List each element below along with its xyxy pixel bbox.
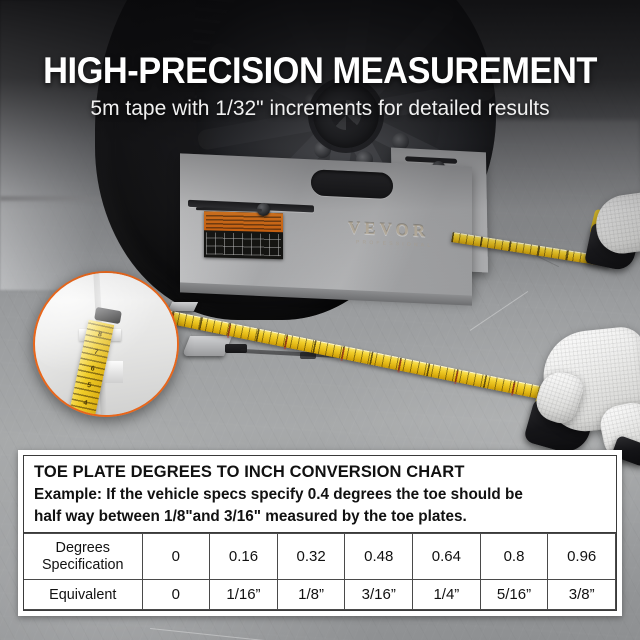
cell-degrees-3: 0.48	[345, 534, 413, 580]
cell-equivalent-0: 0	[142, 580, 210, 610]
table-row-degrees: Degrees Specification 0 0.16 0.32 0.48 0…	[24, 534, 616, 580]
page-subtitle: 5m tape with 1/32" increments for detail…	[0, 97, 640, 121]
table-row-equivalent: Equivalent 0 1/16” 1/8” 3/16” 1/4” 5/16”…	[24, 580, 616, 610]
row-label-line-2: Specification	[24, 557, 142, 574]
cell-degrees-4: 0.64	[413, 534, 481, 580]
cell-degrees-6: 0.96	[548, 534, 616, 580]
chart-header: TOE PLATE DEGREES TO INCH CONVERSION CHA…	[24, 456, 616, 533]
row-label-equivalent: Equivalent	[24, 580, 142, 610]
chart-example-line-1: Example: If the vehicle specs specify 0.…	[34, 485, 606, 505]
tape-number: 5	[86, 382, 91, 390]
page-title: HIGH-PRECISION MEASUREMENT	[22, 52, 617, 89]
conversion-chart-panel: TOE PLATE DEGREES TO INCH CONVERSION CHA…	[18, 450, 622, 616]
cell-degrees-1: 0.16	[210, 534, 278, 580]
cell-equivalent-4: 1/4”	[413, 580, 481, 610]
tape-number: 4	[83, 399, 88, 407]
cell-equivalent-3: 3/16”	[345, 580, 413, 610]
cell-equivalent-5: 5/16”	[480, 580, 548, 610]
product-banner: VEVOR PROFESSIONAL	[0, 0, 640, 640]
cell-equivalent-2: 1/8”	[277, 580, 345, 610]
chart-title: TOE PLATE DEGREES TO INCH CONVERSION CHA…	[34, 462, 606, 483]
chart-example-line-2: half way between 1/8"and 3/16" measured …	[34, 507, 606, 527]
cell-degrees-2: 0.32	[277, 534, 345, 580]
header-gradient-overlay	[0, 0, 640, 300]
cell-equivalent-6: 3/8”	[548, 580, 616, 610]
cell-degrees-0: 0	[142, 534, 210, 580]
cell-equivalent-1: 1/16”	[210, 580, 278, 610]
cell-degrees-5: 0.8	[480, 534, 548, 580]
row-label-line-1: Degrees	[24, 540, 142, 557]
conversion-table: Degrees Specification 0 0.16 0.32 0.48 0…	[24, 533, 616, 610]
row-label-degrees: Degrees Specification	[24, 534, 142, 580]
